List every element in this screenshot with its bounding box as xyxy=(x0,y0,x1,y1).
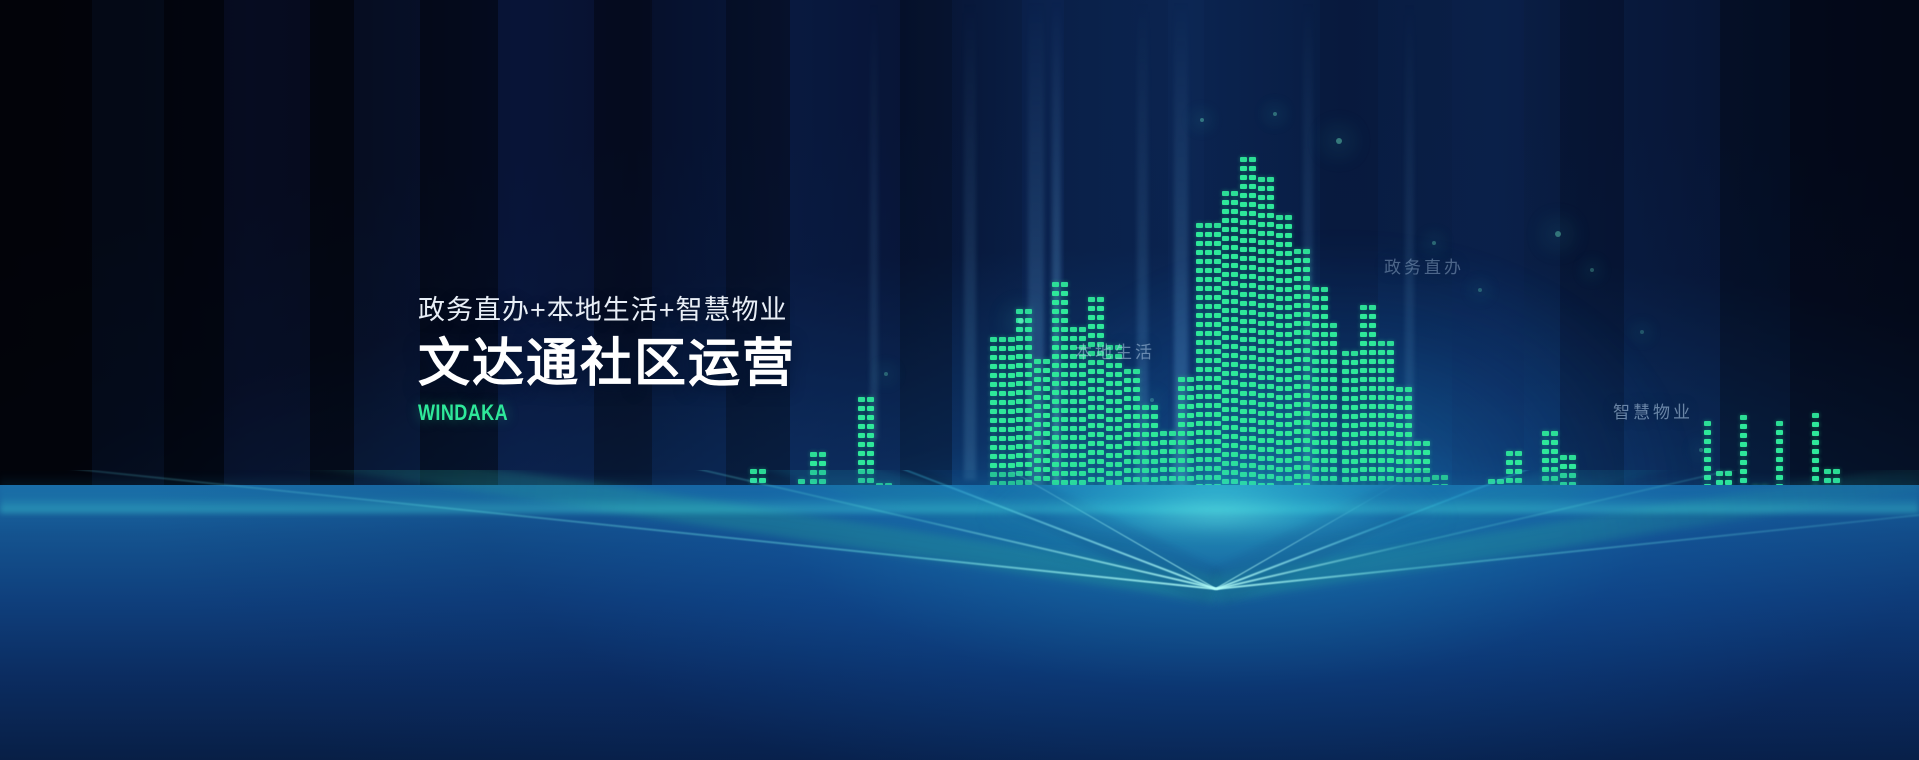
building-dot xyxy=(1205,340,1212,345)
building-dot xyxy=(1704,421,1711,426)
building-dot xyxy=(1205,358,1212,363)
building-dot xyxy=(1240,238,1247,243)
building-dot xyxy=(1294,357,1301,362)
building-dot xyxy=(1704,448,1711,453)
building-dot xyxy=(858,451,865,456)
building-dot xyxy=(1267,312,1274,317)
building-dot xyxy=(1061,363,1068,368)
building-dot xyxy=(1303,348,1310,353)
building-dot xyxy=(1231,191,1238,196)
page-title: 文达通社区运营 xyxy=(418,336,796,392)
building-dot xyxy=(1240,256,1247,261)
building-dot xyxy=(1231,281,1238,286)
building-dot xyxy=(867,451,874,456)
building-dot xyxy=(1222,272,1229,277)
building-dot xyxy=(1052,309,1059,314)
building-dot xyxy=(1776,421,1783,426)
building-dot xyxy=(858,442,865,447)
building-dot xyxy=(1312,341,1319,346)
building-dot xyxy=(1231,263,1238,268)
building-dot xyxy=(1303,249,1310,254)
building-dot xyxy=(1214,259,1221,264)
building-dot xyxy=(819,461,826,466)
building-dot xyxy=(1740,442,1747,447)
vanishing-point-glow xyxy=(937,374,1497,524)
building-dot xyxy=(1551,440,1558,445)
building-dot xyxy=(1240,211,1247,216)
building-dot xyxy=(1267,249,1274,254)
building-dot xyxy=(1249,157,1256,162)
building-dot xyxy=(1240,319,1247,324)
building-dot xyxy=(1276,251,1283,256)
building-dot xyxy=(1285,368,1292,373)
building-dot xyxy=(1205,223,1212,228)
building-dot xyxy=(1369,368,1376,373)
building-dot xyxy=(1222,317,1229,322)
building-dot xyxy=(1812,422,1819,427)
building-dot xyxy=(1231,317,1238,322)
building-dot xyxy=(1249,211,1256,216)
building-dot xyxy=(1267,339,1274,344)
building-dot xyxy=(1378,368,1385,373)
building-dot xyxy=(1240,292,1247,297)
building-dot xyxy=(1506,460,1513,465)
building-dot xyxy=(990,355,997,360)
building-dot xyxy=(1240,265,1247,270)
building-dot xyxy=(1303,294,1310,299)
building-dot xyxy=(1330,341,1337,346)
building-dot xyxy=(1222,344,1229,349)
building-dot xyxy=(1360,368,1367,373)
building-dot xyxy=(1360,323,1367,328)
building-dot xyxy=(1249,274,1256,279)
building-dot xyxy=(1196,358,1203,363)
building-dot xyxy=(1205,331,1212,336)
building-dot xyxy=(1240,220,1247,225)
building-dot xyxy=(867,442,874,447)
building-dot xyxy=(999,355,1006,360)
building-dot xyxy=(1285,323,1292,328)
building-dot xyxy=(1369,305,1376,310)
building-dot xyxy=(1214,358,1221,363)
building-dot xyxy=(1321,350,1328,355)
building-dot xyxy=(1205,304,1212,309)
building-dot xyxy=(1704,457,1711,462)
building-dot xyxy=(1196,340,1203,345)
building-dot xyxy=(1369,314,1376,319)
building-dot xyxy=(819,452,826,457)
building-dot xyxy=(1222,281,1229,286)
building-dot xyxy=(1097,297,1104,302)
building-dot xyxy=(1321,368,1328,373)
building-dot xyxy=(1776,457,1783,462)
building-dot xyxy=(1267,204,1274,209)
building-dot xyxy=(1052,282,1059,287)
building-dot xyxy=(1205,286,1212,291)
building-dot xyxy=(1285,314,1292,319)
building-dot xyxy=(1249,238,1256,243)
building-dot xyxy=(1267,303,1274,308)
building-dot xyxy=(1294,276,1301,281)
building-dot xyxy=(1249,202,1256,207)
building-dot xyxy=(1276,341,1283,346)
building-dot xyxy=(1285,242,1292,247)
building-dot xyxy=(1025,327,1032,332)
building-dot xyxy=(1196,322,1203,327)
building-dot xyxy=(1240,328,1247,333)
building-dot xyxy=(1303,276,1310,281)
building-dot xyxy=(1267,240,1274,245)
building-dot xyxy=(1321,296,1328,301)
building-dot xyxy=(1294,285,1301,290)
glow-particle xyxy=(1478,288,1482,292)
building-dot xyxy=(1222,299,1229,304)
building-dot xyxy=(1214,304,1221,309)
building-dot xyxy=(1285,251,1292,256)
building-dot xyxy=(1369,341,1376,346)
building-dot xyxy=(1740,424,1747,429)
building-dot xyxy=(1321,359,1328,364)
building-dot xyxy=(1267,348,1274,353)
building-dot xyxy=(1249,310,1256,315)
building-dot xyxy=(1740,433,1747,438)
building-dot xyxy=(1061,336,1068,341)
building-dot xyxy=(1276,233,1283,238)
building-dot xyxy=(1240,175,1247,180)
building-dot xyxy=(1222,263,1229,268)
building-dot xyxy=(1214,286,1221,291)
building-dot xyxy=(1812,431,1819,436)
building-dot xyxy=(1249,364,1256,369)
building-dot xyxy=(1214,295,1221,300)
building-dot xyxy=(1312,305,1319,310)
building-dot xyxy=(858,424,865,429)
building-dot xyxy=(1249,220,1256,225)
building-dot xyxy=(1240,355,1247,360)
building-dot xyxy=(1231,290,1238,295)
building-dot xyxy=(1249,229,1256,234)
building-dot xyxy=(1061,345,1068,350)
building-dot xyxy=(1515,460,1522,465)
glow-particle xyxy=(1432,241,1436,245)
building-dot xyxy=(1222,245,1229,250)
building-dot xyxy=(1249,184,1256,189)
building-dot xyxy=(1812,458,1819,463)
building-dot xyxy=(810,461,817,466)
building-dot xyxy=(1231,209,1238,214)
building-dot xyxy=(1231,344,1238,349)
building-dot xyxy=(1222,209,1229,214)
building-dot xyxy=(1294,267,1301,272)
building-dot xyxy=(1222,353,1229,358)
building-dot xyxy=(1016,354,1023,359)
building-dot xyxy=(1061,318,1068,323)
building-dot xyxy=(1812,449,1819,454)
building-dot xyxy=(1070,363,1077,368)
building-dot xyxy=(1258,177,1265,182)
building-dot xyxy=(1258,285,1265,290)
building-dot xyxy=(1387,350,1394,355)
building-dot xyxy=(1240,310,1247,315)
building-dot xyxy=(1387,359,1394,364)
building-dot xyxy=(1258,204,1265,209)
building-dot xyxy=(1196,250,1203,255)
building-dot xyxy=(1249,193,1256,198)
building-dot xyxy=(1330,332,1337,337)
building-dot xyxy=(1196,313,1203,318)
building-dot xyxy=(1267,177,1274,182)
building-dot xyxy=(1321,341,1328,346)
building-dot xyxy=(1258,276,1265,281)
building-dot xyxy=(1231,218,1238,223)
building-dot xyxy=(1205,349,1212,354)
building-dot xyxy=(1276,224,1283,229)
building-dot xyxy=(1258,321,1265,326)
building-dot xyxy=(810,452,817,457)
building-dot xyxy=(1025,318,1032,323)
building-dot xyxy=(1205,295,1212,300)
building-dot xyxy=(1222,218,1229,223)
building-dot xyxy=(1240,202,1247,207)
building-dot xyxy=(1052,291,1059,296)
building-dot xyxy=(1378,350,1385,355)
building-dot xyxy=(1312,296,1319,301)
building-dot xyxy=(1222,200,1229,205)
building-dot xyxy=(1231,353,1238,358)
building-dot xyxy=(1196,232,1203,237)
building-dot xyxy=(1515,451,1522,456)
building-dot xyxy=(1205,313,1212,318)
building-dot xyxy=(1196,277,1203,282)
building-dot xyxy=(1231,200,1238,205)
building-dot xyxy=(1231,236,1238,241)
building-dot xyxy=(1330,359,1337,364)
building-dot xyxy=(1258,240,1265,245)
building-dot xyxy=(1276,242,1283,247)
building-dot xyxy=(1249,328,1256,333)
building-dot xyxy=(1222,236,1229,241)
building-dot xyxy=(1294,312,1301,317)
building-dot xyxy=(1303,267,1310,272)
building-dot xyxy=(1321,323,1328,328)
building-dot xyxy=(1258,213,1265,218)
building-dot xyxy=(1258,222,1265,227)
glow-particle xyxy=(1273,112,1277,116)
building-dot xyxy=(1196,295,1203,300)
building-dot xyxy=(1312,368,1319,373)
building-dot xyxy=(1342,360,1349,365)
building-dot xyxy=(1249,337,1256,342)
building-dot xyxy=(1008,355,1015,360)
city-label: 政务直办 xyxy=(1384,253,1464,278)
building-dot xyxy=(1776,448,1783,453)
building-dot xyxy=(1360,359,1367,364)
building-dot xyxy=(1378,359,1385,364)
building-dot xyxy=(1378,341,1385,346)
building-dot xyxy=(1061,309,1068,314)
building-dot xyxy=(1214,268,1221,273)
glow-particle xyxy=(1200,118,1204,122)
building-dot xyxy=(1294,303,1301,308)
building-dot xyxy=(1034,368,1041,373)
banner-subtitle: 政务直办+本地生活+智慧物业 xyxy=(418,288,796,327)
building-dot xyxy=(1276,296,1283,301)
building-dot xyxy=(1569,464,1576,469)
perspective-ground xyxy=(0,485,1919,760)
building-dot xyxy=(1294,258,1301,263)
building-dot xyxy=(1551,458,1558,463)
building-dot xyxy=(1196,268,1203,273)
building-dot xyxy=(1025,336,1032,341)
building-dot xyxy=(1294,330,1301,335)
building-dot xyxy=(1052,336,1059,341)
building-dot xyxy=(1061,282,1068,287)
building-dot xyxy=(1303,312,1310,317)
building-dot xyxy=(1222,308,1229,313)
building-dot xyxy=(1704,439,1711,444)
building-dot xyxy=(1222,254,1229,259)
building-dot xyxy=(858,460,865,465)
building-dot xyxy=(1369,323,1376,328)
building-dot xyxy=(1052,345,1059,350)
building-dot xyxy=(1231,308,1238,313)
building-dot xyxy=(1043,368,1050,373)
building-dot xyxy=(1088,297,1095,302)
building-dot xyxy=(1776,439,1783,444)
building-dot xyxy=(1258,357,1265,362)
building-dot xyxy=(1249,355,1256,360)
building-dot xyxy=(1196,223,1203,228)
building-dot xyxy=(1249,166,1256,171)
building-dot xyxy=(990,364,997,369)
building-dot xyxy=(1214,367,1221,372)
building-dot xyxy=(1222,290,1229,295)
building-dot xyxy=(867,424,874,429)
building-dot xyxy=(1016,327,1023,332)
building-dot xyxy=(1196,286,1203,291)
building-dot xyxy=(1240,247,1247,252)
building-dot xyxy=(1285,296,1292,301)
building-dot xyxy=(1267,357,1274,362)
building-dot xyxy=(1016,336,1023,341)
building-dot xyxy=(867,433,874,438)
building-dot xyxy=(1294,348,1301,353)
building-dot xyxy=(1249,346,1256,351)
building-dot xyxy=(1285,269,1292,274)
building-dot xyxy=(1551,449,1558,454)
building-dot xyxy=(1008,364,1015,369)
building-dot xyxy=(1258,186,1265,191)
building-dot xyxy=(1342,351,1349,356)
glow-particle xyxy=(1590,268,1594,272)
building-dot xyxy=(1267,285,1274,290)
building-dot xyxy=(1240,274,1247,279)
building-dot xyxy=(1312,314,1319,319)
building-dot xyxy=(1276,287,1283,292)
building-dot xyxy=(1088,324,1095,329)
building-dot xyxy=(1740,460,1747,465)
building-dot xyxy=(1025,309,1032,314)
building-dot xyxy=(1285,278,1292,283)
building-dot xyxy=(1214,313,1221,318)
building-dot xyxy=(1008,337,1015,342)
building-dot xyxy=(1214,277,1221,282)
building-dot xyxy=(1196,304,1203,309)
building-dot xyxy=(1330,350,1337,355)
building-dot xyxy=(1276,323,1283,328)
building-dot xyxy=(1231,272,1238,277)
building-dot xyxy=(1387,341,1394,346)
building-dot xyxy=(1079,327,1086,332)
building-dot xyxy=(858,415,865,420)
building-dot xyxy=(1070,327,1077,332)
glow-particle xyxy=(1640,330,1644,334)
building-dot xyxy=(1267,186,1274,191)
building-dot xyxy=(1303,258,1310,263)
building-dot xyxy=(1258,312,1265,317)
building-dot xyxy=(1542,458,1549,463)
building-dot xyxy=(1061,300,1068,305)
building-dot xyxy=(1303,303,1310,308)
building-dot xyxy=(1294,249,1301,254)
building-dot xyxy=(1214,250,1221,255)
building-dot xyxy=(1196,259,1203,264)
building-dot xyxy=(1231,254,1238,259)
building-dot xyxy=(1560,455,1567,460)
building-dot xyxy=(1812,413,1819,418)
building-dot xyxy=(1240,337,1247,342)
building-dot xyxy=(1222,362,1229,367)
city-label: 智慧物业 xyxy=(1613,398,1693,423)
building-dot xyxy=(1231,245,1238,250)
building-dot xyxy=(1276,359,1283,364)
building-dot xyxy=(1249,175,1256,180)
building-dot xyxy=(1551,431,1558,436)
glow-particle xyxy=(1336,138,1342,144)
building-dot xyxy=(1249,256,1256,261)
building-dot xyxy=(1740,451,1747,456)
building-dot xyxy=(1312,350,1319,355)
building-dot xyxy=(1025,354,1032,359)
building-dot xyxy=(999,337,1006,342)
building-dot xyxy=(1267,321,1274,326)
building-dot xyxy=(1231,299,1238,304)
building-dot xyxy=(1321,287,1328,292)
building-dot xyxy=(1222,335,1229,340)
building-dot xyxy=(1276,350,1283,355)
building-dot xyxy=(1240,301,1247,306)
building-dot xyxy=(1276,269,1283,274)
building-dot xyxy=(1088,306,1095,311)
building-dot xyxy=(1285,341,1292,346)
building-dot xyxy=(1196,349,1203,354)
building-dot xyxy=(1258,294,1265,299)
building-dot xyxy=(1258,195,1265,200)
building-dot xyxy=(1369,350,1376,355)
building-dot xyxy=(1258,330,1265,335)
building-dot xyxy=(1214,340,1221,345)
building-dot xyxy=(1704,430,1711,435)
building-dot xyxy=(1258,366,1265,371)
building-dot xyxy=(1312,359,1319,364)
building-dot xyxy=(1240,157,1247,162)
building-dot xyxy=(1276,305,1283,310)
glow-particle xyxy=(884,372,888,376)
building-dot xyxy=(1351,351,1358,356)
building-dot xyxy=(1205,367,1212,372)
building-dot xyxy=(1294,321,1301,326)
building-dot xyxy=(1214,349,1221,354)
